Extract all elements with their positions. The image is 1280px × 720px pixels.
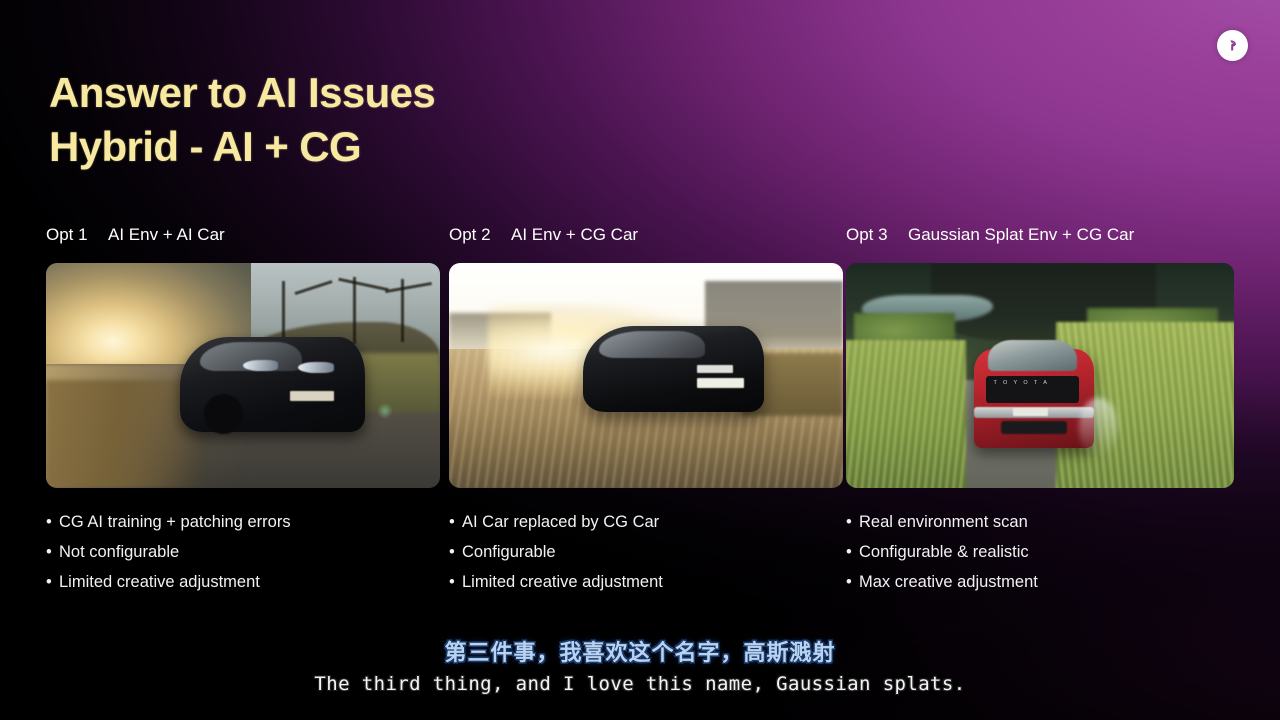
subtitle-chinese: 第三件事，我喜欢这个名字，高斯溅射: [0, 639, 1280, 667]
tall-grass-left: [846, 340, 966, 489]
toyota-grille-text: T O Y O T A: [993, 380, 1049, 386]
bullet-marker-icon: •: [46, 538, 59, 568]
list-item: •Real environment scan: [846, 508, 1240, 538]
bullet-marker-icon: •: [846, 568, 859, 598]
option-2-label: Opt 2: [449, 224, 511, 246]
list-item: •Configurable & realistic: [846, 538, 1240, 568]
option-2-thumbnail[interactable]: [449, 263, 843, 488]
option-1-header: Opt 1 AI Env + AI Car: [46, 224, 440, 246]
option-3-description: Gaussian Splat Env + CG Car: [908, 224, 1134, 246]
bullet-marker-icon: •: [449, 538, 462, 568]
headlight-right: [298, 362, 333, 373]
pickup-skid-plate: [1001, 421, 1067, 435]
bullet-marker-icon: •: [449, 508, 462, 538]
bullet-text: Real environment scan: [859, 513, 1028, 531]
option-3-header: Opt 3 Gaussian Splat Env + CG Car: [846, 224, 1240, 246]
list-item: •Limited creative adjustment: [449, 568, 843, 598]
lens-flare: [377, 403, 393, 419]
bullet-marker-icon: •: [46, 508, 59, 538]
bare-tree-1: [282, 281, 285, 340]
roadside-grass-right: [353, 353, 440, 412]
option-2-header: Opt 2 AI Env + CG Car: [449, 224, 843, 246]
bullet-marker-icon: •: [846, 508, 859, 538]
cg-car-license-plate: [697, 378, 744, 388]
option-column-2: Opt 2 AI Env + CG Car •AI Car replaced b…: [449, 224, 843, 597]
option-1-label: Opt 1: [46, 224, 108, 246]
list-item: •Max creative adjustment: [846, 568, 1240, 598]
option-1-description: AI Env + AI Car: [108, 224, 225, 246]
cg-car-windshield: [599, 331, 705, 358]
cg-car-badge: [697, 365, 732, 372]
bullet-text: Not configurable: [59, 543, 179, 561]
bullet-marker-icon: •: [846, 538, 859, 568]
bullet-text: AI Car replaced by CG Car: [462, 513, 659, 531]
option-3-thumbnail[interactable]: T O Y O T A: [846, 263, 1234, 488]
option-1-thumbnail[interactable]: [46, 263, 440, 488]
bullet-text: Limited creative adjustment: [59, 573, 260, 591]
grass-spray: [1079, 398, 1118, 457]
bare-tree-2: [353, 277, 356, 345]
license-plate: [290, 391, 333, 401]
list-item: •AI Car replaced by CG Car: [449, 508, 843, 538]
bullet-text: Max creative adjustment: [859, 573, 1038, 591]
list-item: •Not configurable: [46, 538, 440, 568]
option-3-label: Opt 3: [846, 224, 908, 246]
list-item: •Limited creative adjustment: [46, 568, 440, 598]
presentation-slide: Answer to AI Issues Hybrid - AI + CG Opt…: [0, 0, 1280, 720]
option-column-1: Opt 1 AI Env + AI Car: [46, 224, 440, 597]
headlight-left: [243, 360, 278, 371]
pickup-license-plate: [1013, 408, 1048, 416]
option-2-bullets: •AI Car replaced by CG Car •Configurable…: [449, 508, 843, 597]
options-grid: Opt 1 AI Env + AI Car: [0, 0, 1280, 720]
bullet-text: Configurable & realistic: [859, 543, 1029, 561]
list-item: •Configurable: [449, 538, 843, 568]
list-item: •CG AI training + patching errors: [46, 508, 440, 538]
option-column-3: Opt 3 Gaussian Splat Env + CG Car T O Y …: [846, 224, 1240, 597]
bullet-text: Limited creative adjustment: [462, 573, 663, 591]
bullet-text: CG AI training + patching errors: [59, 513, 291, 531]
option-2-description: AI Env + CG Car: [511, 224, 638, 246]
option-1-bullets: •CG AI training + patching errors •Not c…: [46, 508, 440, 597]
front-wheel: [204, 394, 243, 435]
bullet-marker-icon: •: [46, 568, 59, 598]
pickup-cab-windshield: [988, 340, 1077, 372]
bullet-text: Configurable: [462, 543, 556, 561]
subtitle-english: The third thing, and I love this name, G…: [0, 671, 1280, 697]
option-3-bullets: •Real environment scan •Configurable & r…: [846, 508, 1240, 597]
bullet-marker-icon: •: [449, 568, 462, 598]
